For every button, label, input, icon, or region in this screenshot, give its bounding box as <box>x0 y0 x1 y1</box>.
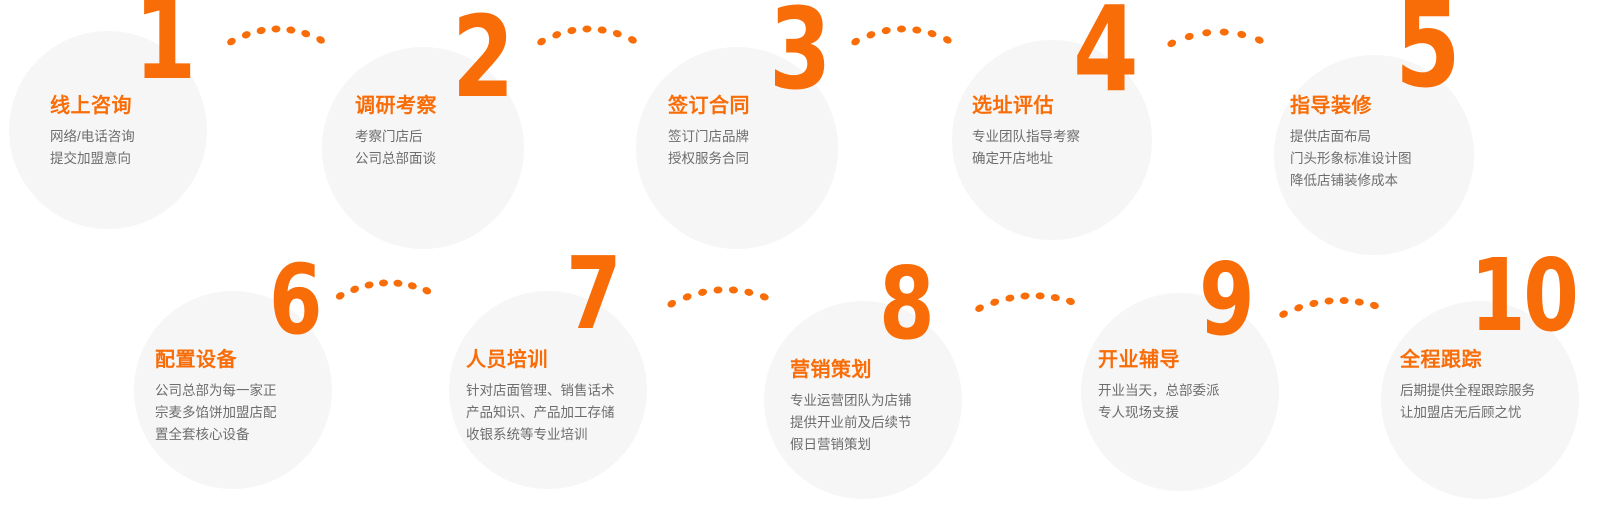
connector-dot <box>697 288 707 297</box>
step-title-3: 签订合同 <box>668 96 750 116</box>
step-desc-line: 确定开店地址 <box>972 148 1080 170</box>
connector-dot <box>1005 294 1015 303</box>
step-desc-line: 专业运营团队为店铺 <box>790 390 912 412</box>
connector-dot <box>393 279 403 287</box>
step-desc-line: 网络/电话咨询 <box>50 126 135 148</box>
connector-dot <box>1369 301 1380 310</box>
step-circle-10 <box>1381 301 1579 499</box>
step-text-3: 签订合同签订门店品牌授权服务合同 <box>668 96 750 170</box>
connector-dot <box>666 299 677 309</box>
step-circle-1 <box>9 31 207 229</box>
step-title-2: 调研考察 <box>355 96 437 116</box>
step-circle-6 <box>134 291 332 489</box>
step-5[interactable]: 5指导装修提供店面布局门头形象标准设计图降低店铺装修成本 <box>0 0 1606 508</box>
step-number-10: 10 <box>1470 246 1577 346</box>
step-circle-9 <box>1081 293 1279 491</box>
step-9[interactable]: 9开业辅导开业当天，总部委派专人现场支援 <box>0 0 1606 508</box>
connector-dot <box>1035 292 1044 299</box>
step-number-6: 6 <box>269 252 320 348</box>
step-text-8: 营销策划专业运营团队为店铺提供开业前及后续节假日营销策划 <box>790 360 912 456</box>
step-title-10: 全程跟踪 <box>1400 350 1535 370</box>
connector-dot <box>627 35 638 45</box>
step-desc-line: 提交加盟意向 <box>50 148 135 170</box>
connector-dot <box>1184 32 1195 41</box>
step-title-6: 配置设备 <box>155 350 277 370</box>
connector-dot <box>379 279 388 287</box>
step-desc-line: 假日营销策划 <box>790 434 912 456</box>
step-text-10: 全程跟踪后期提供全程跟踪服务让加盟店无后顾之忧 <box>1400 350 1535 424</box>
step-number-2: 2 <box>452 2 512 114</box>
step-number-8: 8 <box>879 254 932 354</box>
connector-dot <box>713 286 722 294</box>
connector-dot <box>729 286 738 294</box>
connector-dot <box>1202 29 1212 37</box>
connector-dot <box>1020 292 1030 300</box>
connector-dot <box>271 25 280 32</box>
connector-dot <box>551 30 562 40</box>
connector-dot <box>582 25 591 32</box>
step-desc-1: 网络/电话咨询提交加盟意向 <box>50 126 135 170</box>
step-2[interactable]: 2调研考察考察门店后公司总部面谈 <box>0 0 1606 508</box>
step-1[interactable]: 1线上咨询网络/电话咨询提交加盟意向 <box>0 0 1606 508</box>
step-number-9: 9 <box>1199 250 1252 350</box>
step-desc-6: 公司总部为每一家正宗麦多馅饼加盟店配置全套核心设备 <box>155 380 277 446</box>
connector-dot <box>1254 35 1265 45</box>
step-desc-line: 开业当天，总部委派 <box>1098 380 1220 402</box>
connector-dot <box>1065 297 1076 306</box>
connector-dot <box>226 36 237 46</box>
step-text-2: 调研考察考察门店后公司总部面谈 <box>355 96 437 170</box>
step-title-5: 指导装修 <box>1290 96 1412 116</box>
step-10[interactable]: 10全程跟踪后期提供全程跟踪服务让加盟店无后顾之忧 <box>0 0 1606 508</box>
step-desc-10: 后期提供全程跟踪服务让加盟店无后顾之忧 <box>1400 380 1535 424</box>
step-text-5: 指导装修提供店面布局门头形象标准设计图降低店铺装修成本 <box>1290 96 1412 192</box>
connector-dot <box>989 297 1000 306</box>
franchise-process-flow: 1线上咨询网络/电话咨询提交加盟意向2调研考察考察门店后公司总部面谈3签订合同签… <box>0 0 1606 508</box>
step-text-1: 线上咨询网络/电话咨询提交加盟意向 <box>50 96 135 170</box>
connector-dot <box>1354 298 1364 306</box>
step-desc-line: 专人现场支援 <box>1098 402 1220 424</box>
connector-dot <box>1293 303 1304 313</box>
step-desc-line: 产品知识、产品加工存储 <box>466 402 615 424</box>
step-desc-9: 开业当天，总部委派专人现场支援 <box>1098 380 1220 424</box>
step-desc-line: 宗麦多馅饼加盟店配 <box>155 402 277 424</box>
connector-dot <box>942 35 953 45</box>
step-title-7: 人员培训 <box>466 350 615 370</box>
step-desc-line: 降低店铺装修成本 <box>1290 170 1412 192</box>
connector-dot <box>881 26 891 35</box>
connector-dot <box>567 26 577 35</box>
connector-dot <box>335 291 346 301</box>
step-desc-line: 签订门店品牌 <box>668 126 750 148</box>
connector-dot <box>256 26 266 35</box>
step-3[interactable]: 3签订合同签订门店品牌授权服务合同 <box>0 0 1606 508</box>
connector-dot <box>1278 309 1289 319</box>
connector-dot <box>850 36 861 46</box>
connector-dot <box>364 281 374 290</box>
connector-dot <box>759 292 770 302</box>
step-desc-line: 专业团队指导考察 <box>972 126 1080 148</box>
step-circle-2 <box>322 47 524 249</box>
step-number-5: 5 <box>1395 0 1458 104</box>
connector-dot <box>597 26 607 34</box>
step-text-4: 选址评估专业团队指导考察确定开店地址 <box>972 96 1080 170</box>
step-desc-5: 提供店面布局门头形象标准设计图降低店铺装修成本 <box>1290 126 1412 192</box>
step-title-8: 营销策划 <box>790 360 912 380</box>
step-desc-3: 签订门店品牌授权服务合同 <box>668 126 750 170</box>
step-circle-7 <box>449 291 647 489</box>
step-6[interactable]: 6配置设备公司总部为每一家正宗麦多馅饼加盟店配置全套核心设备 <box>0 0 1606 508</box>
step-text-9: 开业辅导开业当天，总部委派专人现场支援 <box>1098 350 1220 424</box>
connector-dot <box>1050 293 1060 302</box>
connector-dot <box>286 26 296 34</box>
step-number-4: 4 <box>1073 0 1136 108</box>
step-desc-line: 后期提供全程跟踪服务 <box>1400 380 1535 402</box>
connector-dot <box>407 281 417 290</box>
connector-dot <box>744 288 754 297</box>
step-desc-line: 收银系统等专业培训 <box>466 424 615 446</box>
step-text-6: 配置设备公司总部为每一家正宗麦多馅饼加盟店配置全套核心设备 <box>155 350 277 446</box>
step-desc-line: 公司总部面谈 <box>355 148 437 170</box>
connector-dot <box>1324 297 1334 305</box>
connector-dot <box>897 25 906 32</box>
step-title-1: 线上咨询 <box>50 96 135 116</box>
step-4[interactable]: 4选址评估专业团队指导考察确定开店地址 <box>0 0 1606 508</box>
step-8[interactable]: 8营销策划专业运营团队为店铺提供开业前及后续节假日营销策划 <box>0 0 1606 508</box>
step-circle-4 <box>952 40 1152 240</box>
connector-dot <box>536 36 547 46</box>
connector-dot <box>927 29 938 38</box>
step-desc-2: 考察门店后公司总部面谈 <box>355 126 437 170</box>
connector-dot <box>1237 30 1247 39</box>
step-desc-line: 授权服务合同 <box>668 148 750 170</box>
step-number-7: 7 <box>566 244 619 344</box>
step-desc-line: 提供开业前及后续节 <box>790 412 912 434</box>
step-number-1: 1 <box>134 0 194 96</box>
step-7[interactable]: 7人员培训针对店面管理、销售话术产品知识、产品加工存储收银系统等专业培训 <box>0 0 1606 508</box>
connector-dot <box>1220 28 1229 35</box>
step-desc-7: 针对店面管理、销售话术产品知识、产品加工存储收银系统等专业培训 <box>466 380 615 446</box>
connector-dot <box>421 286 432 296</box>
connector-dot <box>974 303 985 313</box>
connector-dot <box>1166 38 1177 48</box>
step-number-3: 3 <box>769 0 829 106</box>
step-desc-line: 置全套核心设备 <box>155 424 277 446</box>
step-desc-line: 提供店面布局 <box>1290 126 1412 148</box>
connector-dot <box>1309 299 1319 308</box>
step-desc-4: 专业团队指导考察确定开店地址 <box>972 126 1080 170</box>
step-title-9: 开业辅导 <box>1098 350 1220 370</box>
step-desc-8: 专业运营团队为店铺提供开业前及后续节假日营销策划 <box>790 390 912 456</box>
step-desc-line: 公司总部为每一家正 <box>155 380 277 402</box>
connector-dot <box>349 284 360 294</box>
step-circle-3 <box>636 47 838 249</box>
connector-dot <box>241 30 252 40</box>
step-title-4: 选址评估 <box>972 96 1080 116</box>
step-text-7: 人员培训针对店面管理、销售话术产品知识、产品加工存储收银系统等专业培训 <box>466 350 615 446</box>
step-desc-line: 让加盟店无后顾之忧 <box>1400 402 1535 424</box>
connector-dot <box>912 26 922 34</box>
step-circle-8 <box>764 301 962 499</box>
connector-dot <box>300 29 311 38</box>
step-circle-5 <box>1274 55 1474 255</box>
step-desc-line: 考察门店后 <box>355 126 437 148</box>
step-desc-line: 针对店面管理、销售话术 <box>466 380 615 402</box>
connector-dot <box>315 35 326 45</box>
connector-dot <box>1340 297 1349 304</box>
connector-dot <box>866 30 877 40</box>
connector-dot <box>612 29 623 38</box>
step-desc-line: 门头形象标准设计图 <box>1290 148 1412 170</box>
connector-dot <box>682 292 693 302</box>
